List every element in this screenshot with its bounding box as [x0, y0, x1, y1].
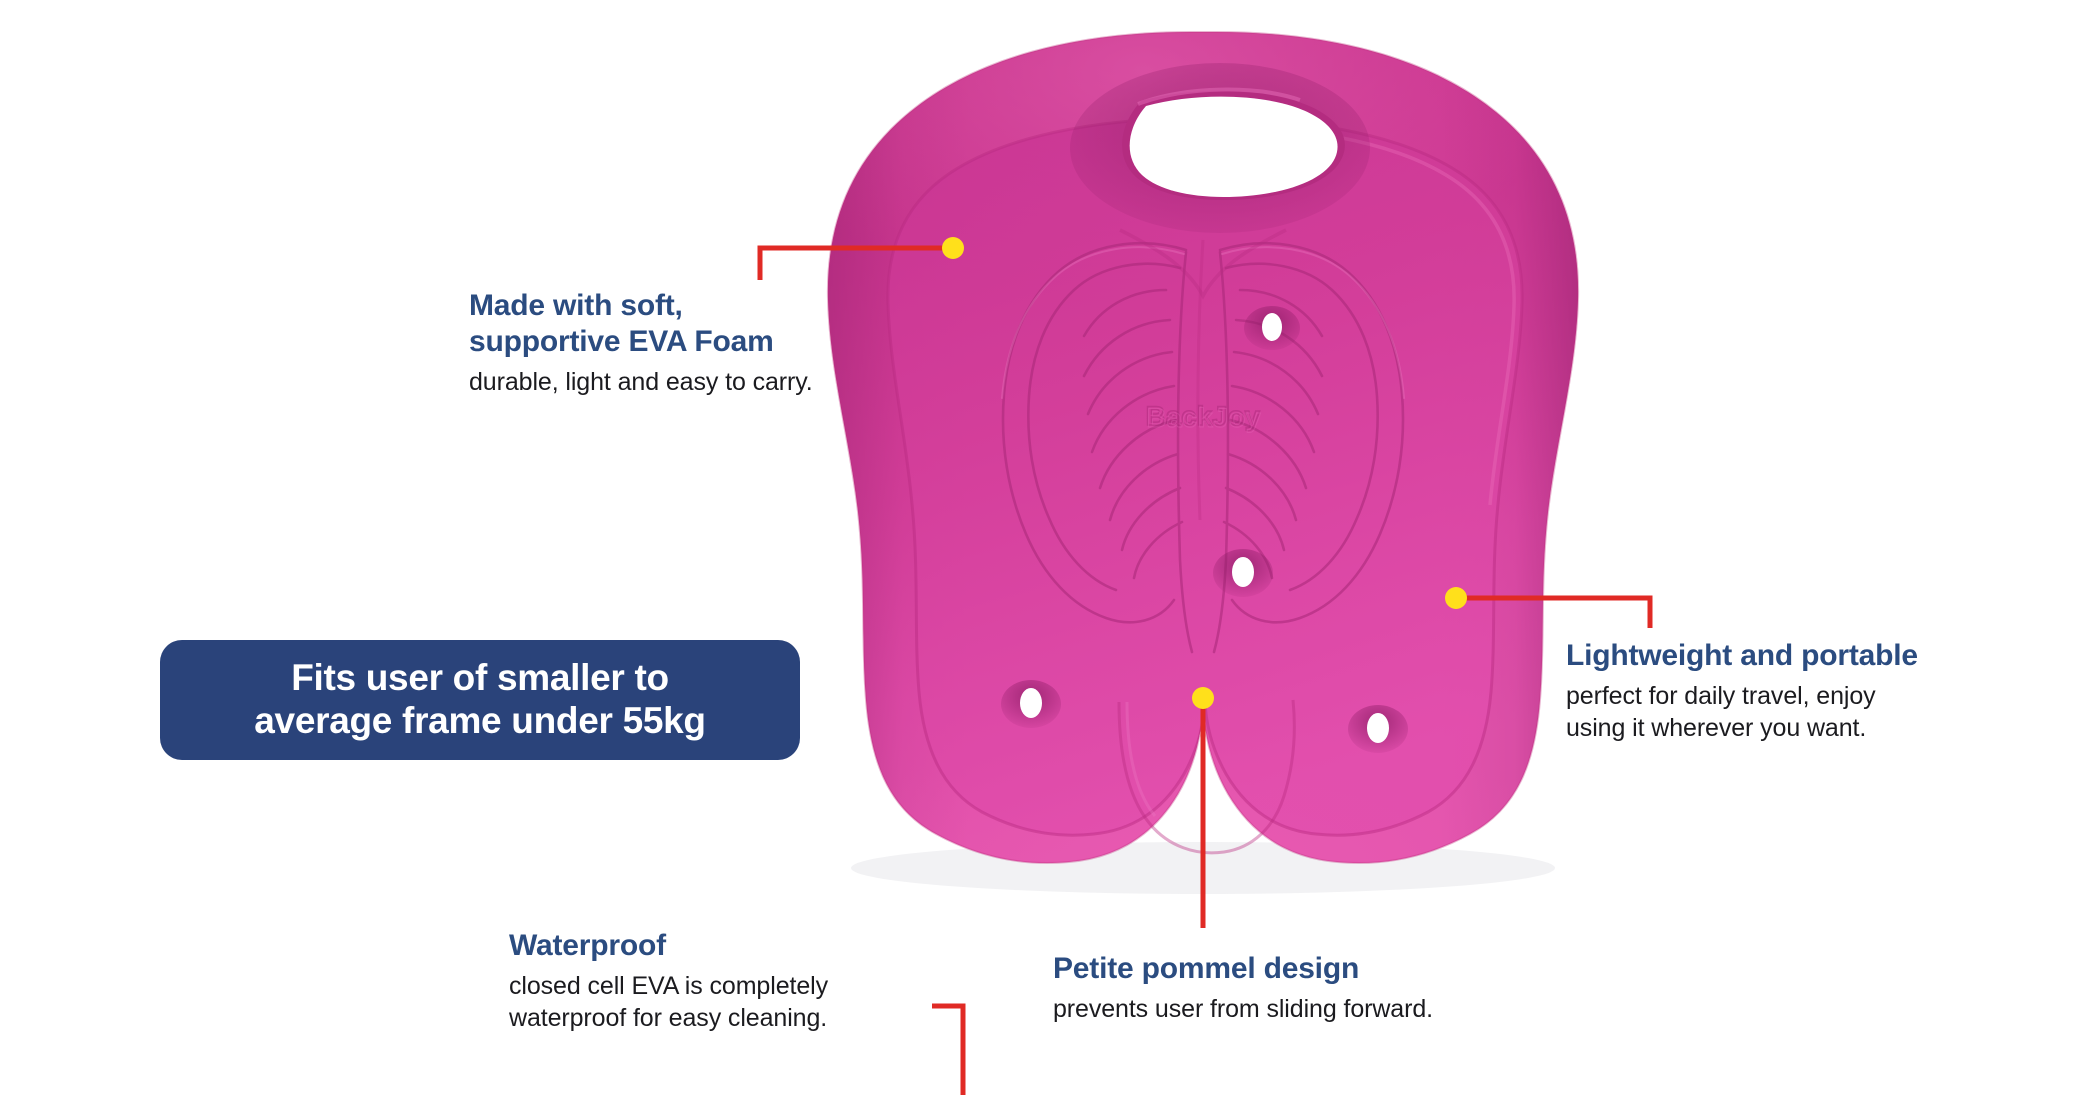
callout-lightweight-and-portable: Lightweight and portable perfect for dai… [1566, 638, 2036, 744]
callout-waterproof: Waterproof closed cell EVA is completely… [509, 928, 939, 1034]
callout-petite-pommel-design: Petite pommel design prevents user from … [1053, 951, 1553, 1025]
marker-dot-pommel [1192, 687, 1214, 709]
callout-title: Made with soft, supportive EVA Foam [469, 288, 939, 360]
callout-body: perfect for daily travel, enjoy using it… [1566, 680, 2036, 744]
callout-body: prevents user from sliding forward. [1053, 993, 1553, 1025]
marker-dot-foam [942, 237, 964, 259]
callout-connector-lines [0, 0, 2085, 1095]
svg-text:BackJoy: BackJoy [1147, 403, 1262, 433]
marker-dot-lightweight [1445, 587, 1467, 609]
pommel-notch [1119, 700, 1294, 853]
svg-text:BackJoy: BackJoy [1146, 401, 1261, 431]
angel-wings-emboss [1003, 243, 1403, 652]
callout-markers [942, 237, 1467, 709]
fit-badge-text: Fits user of smaller to average frame un… [254, 657, 705, 743]
callout-body: durable, light and easy to carry. [469, 366, 939, 398]
infographic-canvas: BackJoy BackJoy Fits user of smaller to … [0, 0, 2085, 1095]
brand-emboss-backjoy: BackJoy BackJoy [1146, 401, 1262, 433]
callout-title: Petite pommel design [1053, 951, 1553, 987]
angel-wings-emboss-highlight [1002, 247, 1404, 398]
fit-badge: Fits user of smaller to average frame un… [160, 640, 800, 760]
cushion-body: BackJoy BackJoy [820, 20, 1590, 890]
product-image-seat-cushion: BackJoy BackJoy [0, 0, 2085, 1095]
carry-handle-hole [1070, 63, 1370, 233]
callout-body: closed cell EVA is completely waterproof… [509, 970, 939, 1034]
callout-title: Waterproof [509, 928, 939, 964]
drain-holes [1001, 306, 1408, 753]
callout-title: Lightweight and portable [1566, 638, 2036, 674]
connector-foam [760, 248, 953, 280]
connector-lightweight [1456, 598, 1650, 628]
callout-made-with-soft-eva-foam: Made with soft, supportive EVA Foam dura… [469, 288, 939, 398]
